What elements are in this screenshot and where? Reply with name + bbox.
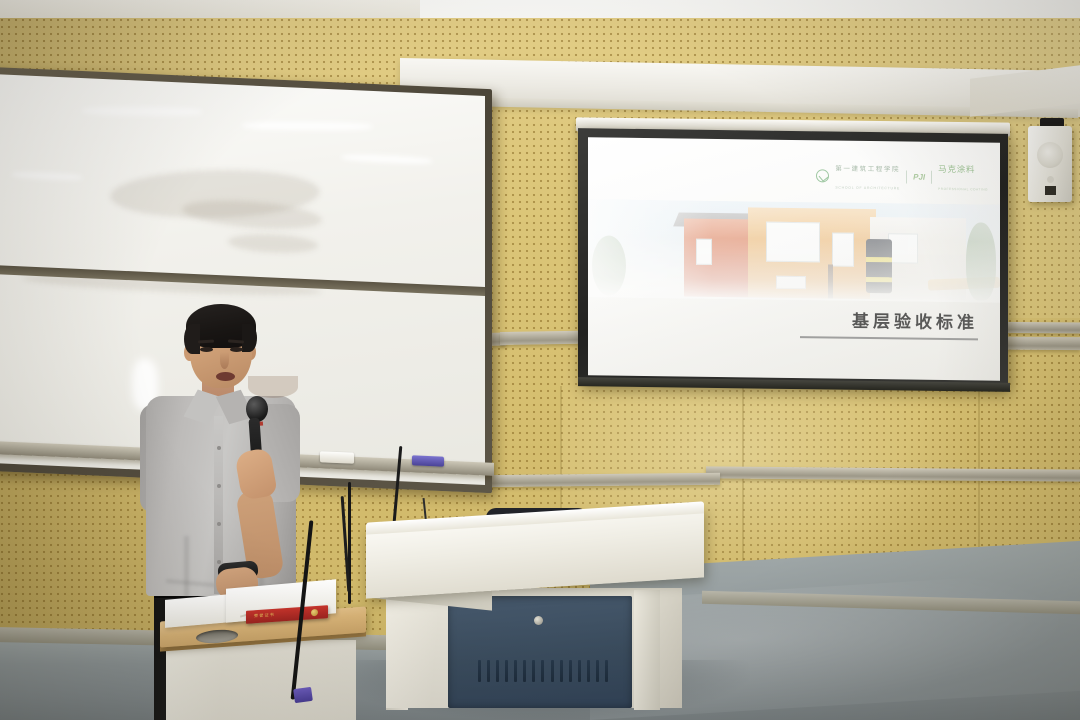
whiteboard-glare <box>342 154 432 165</box>
slide-title-text: 基层验收标准 <box>800 306 978 333</box>
lectern-cabinet-door[interactable] <box>448 596 632 708</box>
slide-title-rule <box>800 336 978 340</box>
projection-screen-surface: 第一建筑工程学院 SCHOOL OF ARCHITECTURE PJI 马克涂料… <box>588 137 1000 380</box>
whiteboard-marks <box>228 233 318 255</box>
shirt-button <box>217 446 221 450</box>
speaker-tweeter-icon <box>1047 176 1054 183</box>
whiteboard-glare <box>82 106 202 116</box>
lectern-lock-icon[interactable] <box>534 616 543 625</box>
slide-photo <box>588 199 1000 302</box>
leaf-circle-icon <box>816 169 829 182</box>
lectern-vents <box>478 660 608 682</box>
lecture-hall-photo: 第一建筑工程学院 SCHOOL OF ARCHITECTURE PJI 马克涂料… <box>0 0 1080 720</box>
certificate-text: 荣誉证书 <box>254 612 275 619</box>
presenter-hair-side <box>242 324 257 352</box>
presentation-slide: 第一建筑工程学院 SCHOOL OF ARCHITECTURE PJI 马克涂料… <box>588 137 1000 380</box>
speaker-logo <box>1045 186 1056 195</box>
slide-photo-fade <box>588 199 1000 302</box>
shirt-button <box>217 484 221 488</box>
lectern-leg-right <box>634 590 660 710</box>
slide-logo-brand: 马克涂料 PROFESSIONAL COATING <box>938 159 988 196</box>
shirt-button <box>217 560 221 564</box>
shirt-button <box>217 522 221 526</box>
logo-divider <box>906 170 907 183</box>
jaw-shading <box>248 376 298 398</box>
presenter-eye-left <box>200 347 213 352</box>
blue-marker[interactable] <box>412 455 444 466</box>
side-table-body <box>166 640 356 720</box>
presenter-mouth <box>216 372 235 381</box>
slide-logo: 第一建筑工程学院 SCHOOL OF ARCHITECTURE PJI 马克涂料… <box>816 157 988 195</box>
presenter-eye-right <box>230 347 243 352</box>
logo-divider <box>931 170 932 183</box>
slide-title: 基层验收标准 <box>800 306 978 340</box>
speaker-cone-icon <box>1037 142 1063 168</box>
presenter-nose <box>220 352 229 369</box>
presenter-hair-side <box>184 324 200 354</box>
wall-speaker <box>1028 126 1072 202</box>
whiteboard-glare <box>12 171 82 181</box>
slide-logo-institution: 第一建筑工程学院 SCHOOL OF ARCHITECTURE <box>835 158 900 195</box>
whiteboard-glare <box>242 121 372 130</box>
certificate-seal-icon <box>311 609 318 616</box>
slide-logo-badge: PJI <box>913 172 925 181</box>
purple-plug[interactable] <box>293 687 313 703</box>
